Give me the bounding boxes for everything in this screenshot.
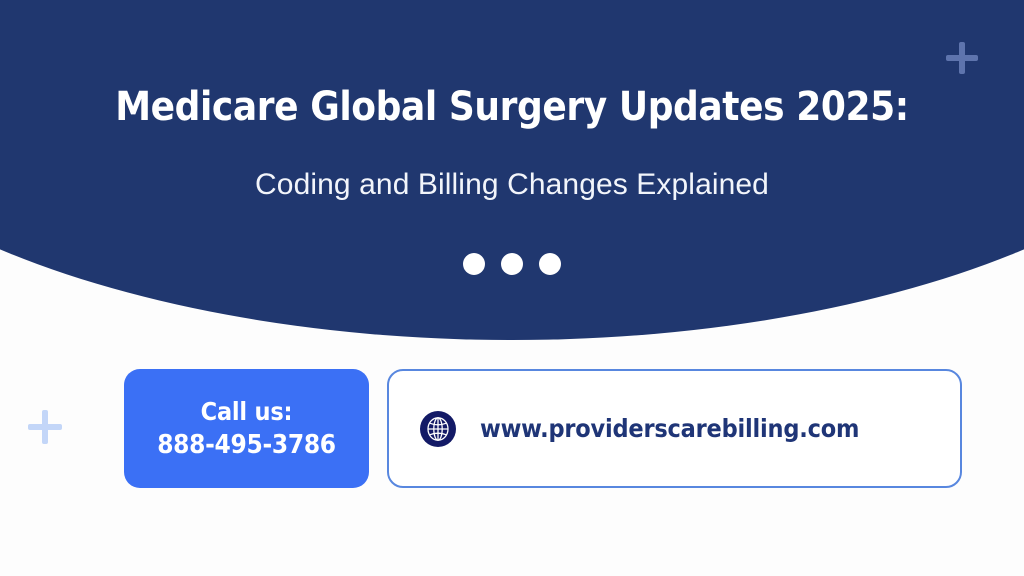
website-link-box[interactable]: www.providerscarebilling.com — [387, 369, 962, 488]
separator-dot — [501, 253, 523, 275]
website-url: www.providerscarebilling.com — [480, 414, 859, 443]
separator-dot — [463, 253, 485, 275]
contact-row: Call us: 888-495-3786 www.providerscareb… — [124, 369, 962, 488]
call-us-label: Call us: — [201, 396, 293, 427]
promo-banner: Medicare Global Surgery Updates 2025: Co… — [0, 0, 1024, 576]
plus-icon-bottom-left — [28, 410, 62, 444]
page-subtitle: Coding and Billing Changes Explained — [0, 167, 1024, 203]
headline-block: Medicare Global Surgery Updates 2025: Co… — [0, 84, 1024, 203]
separator-dot — [539, 253, 561, 275]
phone-number: 888-495-3786 — [157, 429, 336, 462]
call-us-button[interactable]: Call us: 888-495-3786 — [124, 369, 369, 488]
dot-separator — [0, 253, 1024, 275]
plus-icon-top-right — [946, 42, 978, 74]
globe-icon — [420, 411, 456, 447]
page-title: Medicare Global Surgery Updates 2025: — [0, 84, 1024, 131]
